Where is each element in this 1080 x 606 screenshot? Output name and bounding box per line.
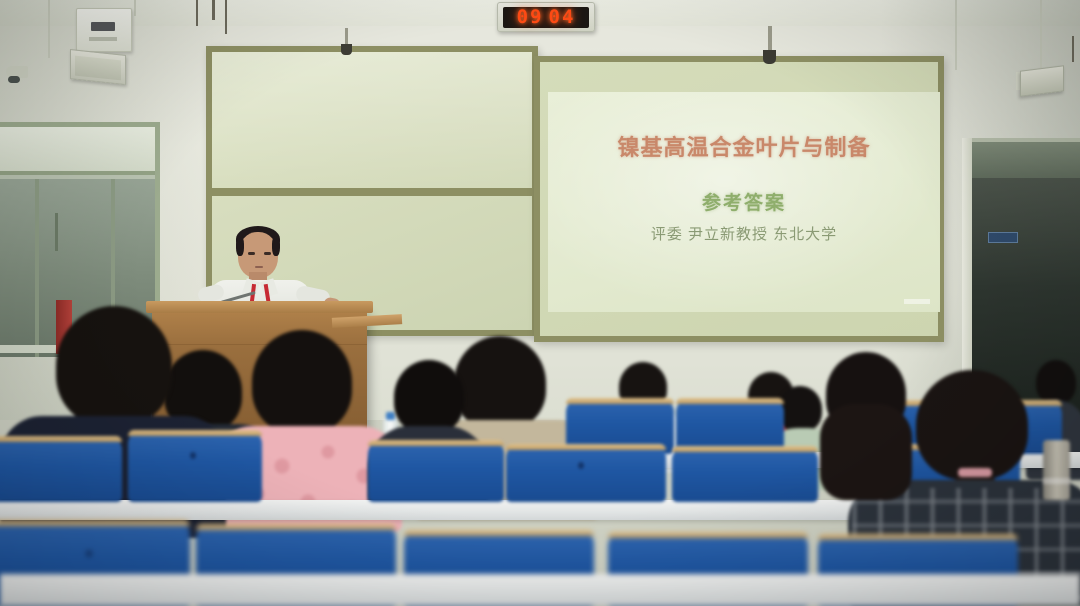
wall-cable-6	[955, 0, 957, 70]
door-sign	[988, 232, 1018, 243]
seat-trim	[196, 524, 396, 530]
seat-trim	[368, 440, 504, 446]
speaker-right-icon	[1020, 65, 1064, 96]
electrical-box-label	[89, 37, 117, 41]
seat-bolt-icon	[578, 462, 584, 469]
seat-trim	[676, 398, 784, 404]
presenter-hair-side-right	[272, 236, 280, 256]
projected-slide: 镍基高温合金叶片与制备 参考答案 评委 尹立新教授 东北大学	[548, 92, 940, 312]
presenter-hair-side-left	[236, 236, 244, 256]
seat-trim	[404, 530, 594, 536]
board-divider	[212, 188, 532, 196]
window-handle	[55, 213, 58, 251]
wall-cable-1	[48, 0, 50, 58]
board-hook-right-clip	[763, 50, 776, 64]
long-hair	[820, 404, 912, 500]
countdown-timer: 09 04	[497, 2, 595, 32]
slide-credit: 评委 尹立新教授 东北大学	[651, 223, 837, 244]
head	[394, 360, 464, 434]
seat-r2-4	[506, 444, 666, 502]
electrical-box-display	[91, 22, 115, 31]
seat-trim	[0, 436, 122, 442]
wall-cable-7	[1040, 0, 1042, 68]
timer-screen: 09 04	[503, 7, 589, 28]
camera-lens-icon	[8, 76, 20, 83]
seat-trim	[818, 534, 1018, 540]
seat-bolt-icon	[190, 452, 196, 459]
seat-r2-5	[672, 446, 818, 502]
wall-cable-3	[196, 0, 198, 26]
timer-minutes: 04	[549, 8, 576, 27]
electrical-box	[76, 8, 132, 52]
window-top-pane	[0, 127, 155, 175]
presenter-eye-right	[264, 252, 271, 255]
seat-trim	[672, 446, 818, 452]
wall-cable-5	[225, 0, 227, 34]
seat-trim	[0, 520, 190, 526]
seat-r2-1	[0, 436, 122, 502]
seat-trim	[608, 532, 808, 538]
screen-corner-highlight	[904, 299, 930, 304]
slide-title: 镍基高温合金叶片与制备	[617, 130, 870, 162]
seat-trim	[506, 444, 666, 450]
projection-board: 镍基高温合金叶片与制备 参考答案 评委 尹立新教授 东北大学	[534, 56, 944, 342]
slide-subtitle: 参考答案	[702, 188, 786, 215]
seat-r2-3	[368, 440, 504, 502]
audience-long-hair	[806, 352, 930, 512]
wall-cable-4	[212, 0, 215, 20]
wall-cable-8	[1072, 36, 1074, 62]
thermos-band	[1043, 478, 1070, 484]
security-camera-icon	[6, 66, 28, 78]
timer-hours: 09	[517, 8, 544, 27]
speaker-left-icon	[70, 49, 126, 85]
seat-trim	[566, 398, 674, 404]
thermos-flask	[1043, 440, 1070, 500]
head	[56, 306, 172, 426]
board-hook-left-clip	[341, 44, 352, 55]
wall-cable-2	[134, 0, 136, 16]
seat-r2-2	[128, 430, 262, 502]
seat-bolt-icon	[86, 550, 92, 557]
lecture-hall-photo: 09 04 镍基高温合金叶片与制备 参考答案 评委 尹立新教授 东北大学	[0, 0, 1080, 606]
door-transom-window	[968, 138, 1080, 180]
speaker-left-grille	[75, 56, 121, 81]
presenter-mouth	[255, 266, 263, 268]
seat-trim	[128, 430, 262, 436]
board-glare	[212, 52, 532, 188]
desk-row-1	[0, 574, 1080, 606]
head	[916, 370, 1028, 480]
presenter-eye-left	[248, 252, 255, 255]
hair-tie	[958, 468, 992, 477]
head	[252, 330, 352, 434]
